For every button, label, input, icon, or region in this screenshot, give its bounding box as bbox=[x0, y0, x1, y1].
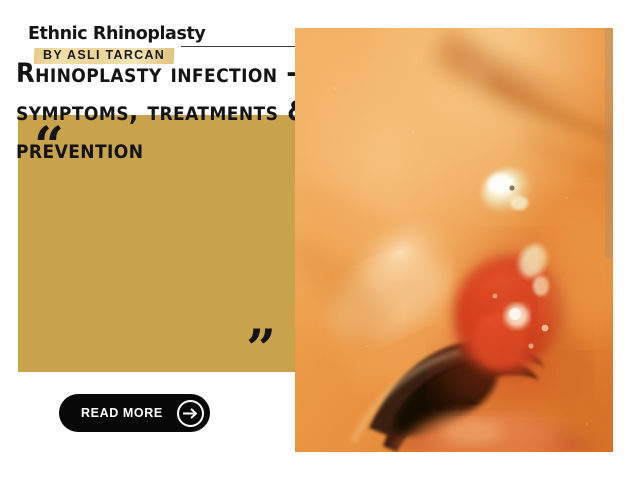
poster-canvas: Ethnic Rhinoplasty BY ASLI TARCAN “ ” Rh… bbox=[0, 0, 640, 480]
brand-divider-rule bbox=[181, 46, 296, 47]
read-more-button[interactable]: READ MORE bbox=[59, 394, 210, 432]
close-quote-icon: ” bbox=[246, 324, 276, 376]
article-photo bbox=[295, 28, 613, 452]
read-more-label: READ MORE bbox=[81, 406, 163, 420]
brand-name: Ethnic Rhinoplasty bbox=[28, 26, 180, 44]
arrow-right-circle-icon bbox=[177, 400, 204, 427]
